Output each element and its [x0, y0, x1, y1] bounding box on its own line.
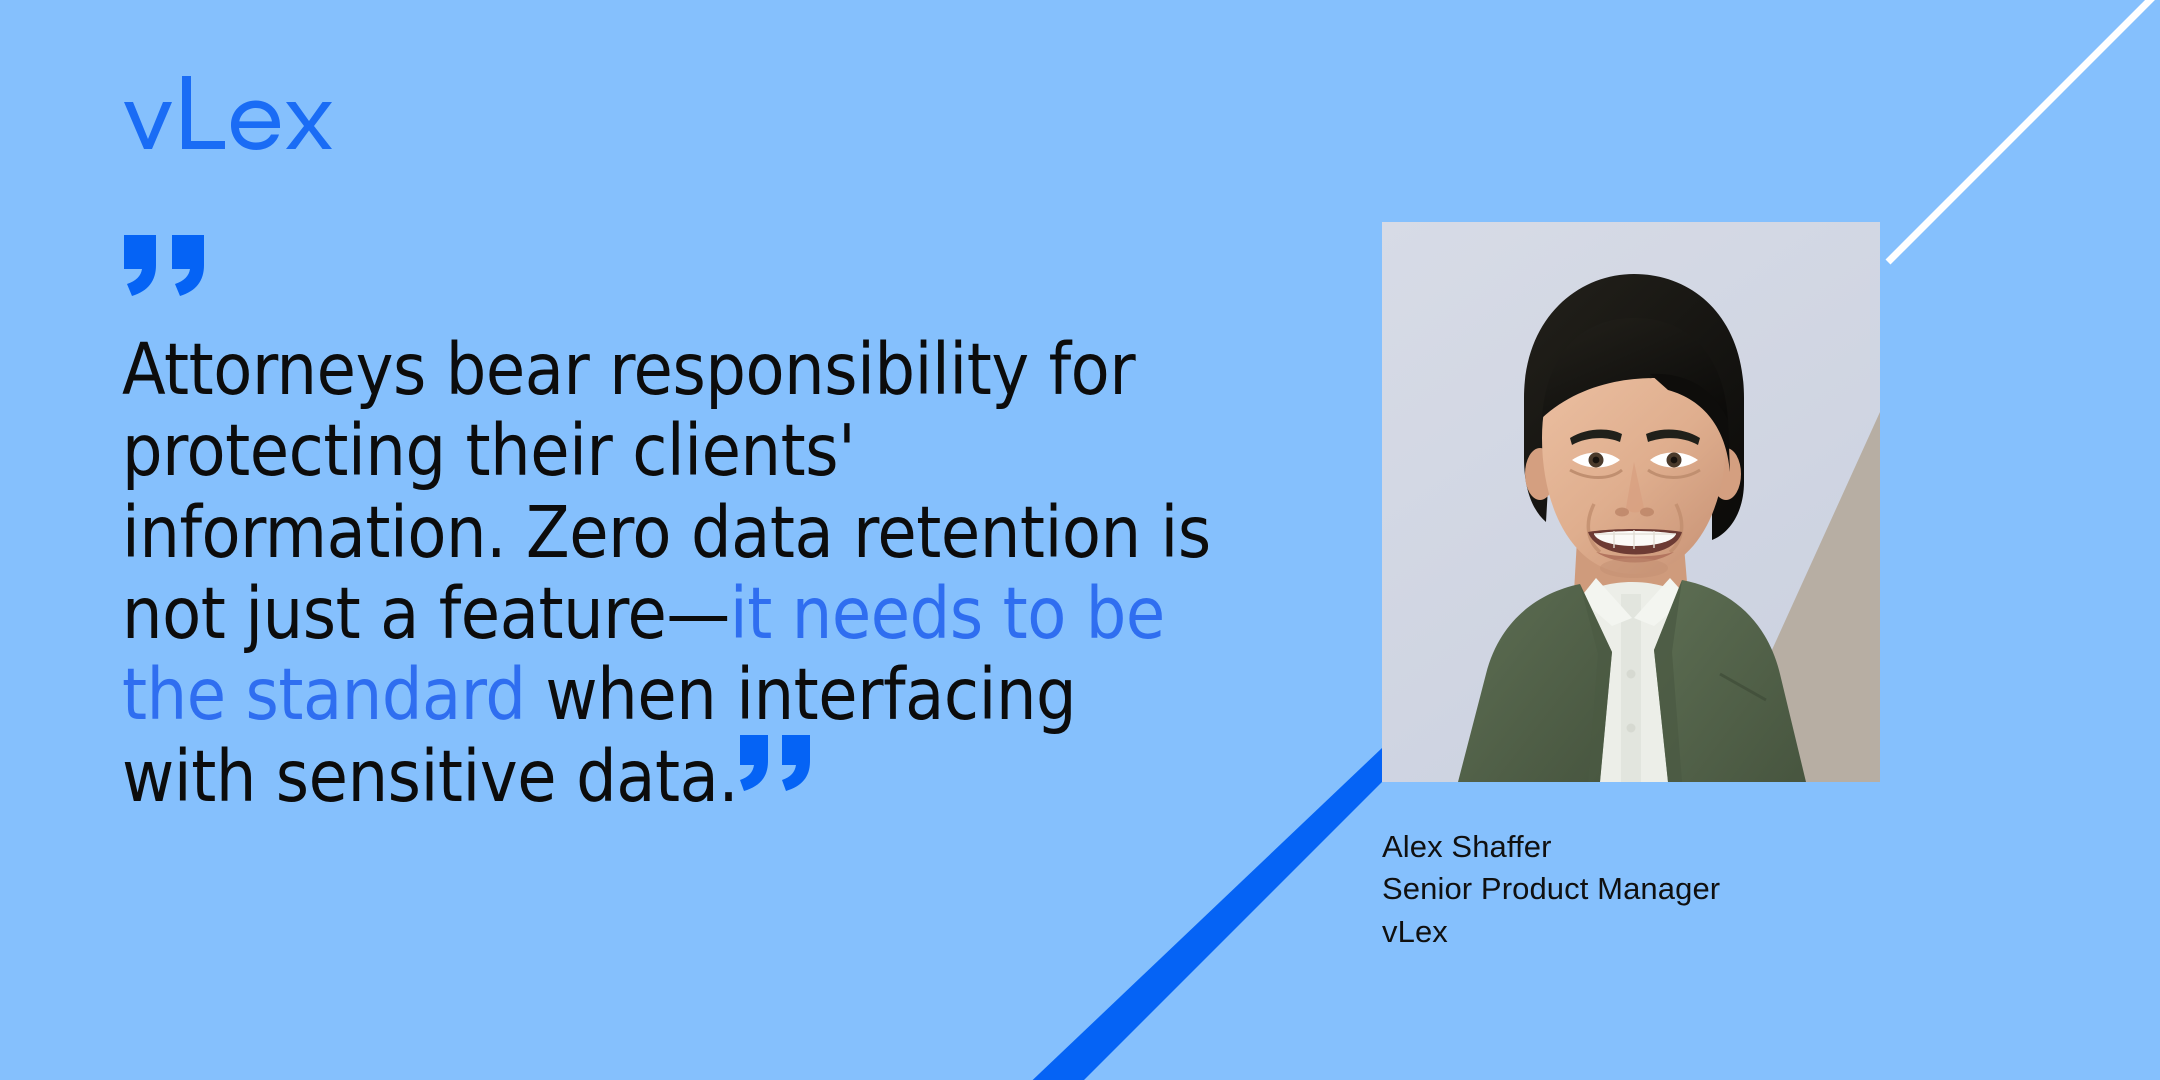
attribution-block: Alex Shaffer Senior Product Manager vLex — [1382, 826, 1720, 953]
portrait-photo — [1382, 222, 1880, 782]
attribution-name: Alex Shaffer — [1382, 826, 1720, 868]
quote-text: Attorneys bear responsibility for protec… — [122, 329, 1217, 818]
white-diagonal-line — [1888, 0, 2160, 262]
attribution-title: Senior Product Manager — [1382, 868, 1720, 910]
vlex-logo[interactable] — [122, 72, 332, 152]
quote-close-icon — [738, 735, 816, 791]
quote-block: Attorneys bear responsibility for protec… — [122, 235, 1222, 818]
quote-open-icon — [122, 235, 212, 297]
attribution-company: vLex — [1382, 911, 1720, 953]
